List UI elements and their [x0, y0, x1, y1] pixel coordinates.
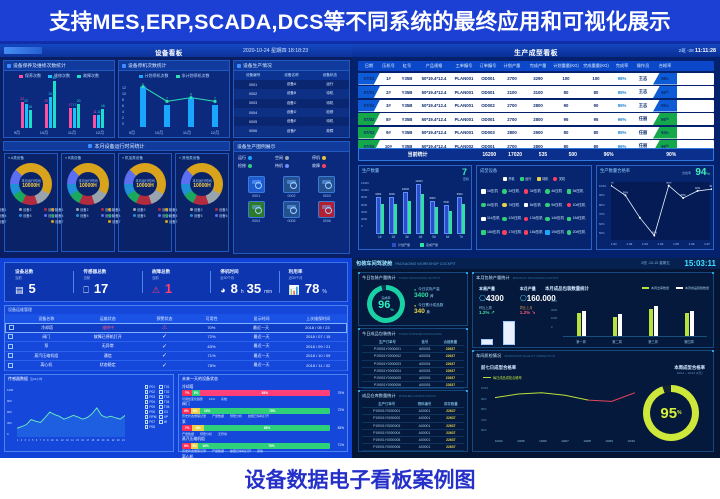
bar: 26 — [49, 97, 52, 128]
status-dot — [524, 203, 529, 208]
table-row[interactable]: P19001Y0000001A0000122637 — [362, 408, 464, 415]
sensor-checkbox[interactable]: P05 — [145, 405, 157, 409]
table-row[interactable]: 0003设备C待机 — [234, 99, 349, 108]
machine-chip[interactable]: 10#压机 — [567, 203, 587, 208]
x-tick: 16 — [81, 439, 84, 442]
legend-label: 待机 — [542, 176, 548, 181]
top-banner: 支持MES,ERP,SCADA,DCS等不同系统的最终应用和可视化展示 — [0, 0, 720, 41]
checkbox-icon[interactable] — [159, 415, 163, 419]
machine-chip[interactable]: 5#压机 — [567, 189, 587, 194]
table-row[interactable]: P19001Y0000002A0000122637 — [362, 415, 464, 422]
machine-status-title: 成型设备 — [477, 166, 591, 174]
today-output-title: 今日包装产量统计 TODAY PACKAGING OUTPUT — [359, 273, 467, 281]
legend-label: 设备7 — [169, 219, 177, 224]
sensor-checkbox[interactable]: T05 — [159, 405, 171, 409]
today-finished-table[interactable]: 生产订单号批号合格数量P19001Y0000001A0000122637P190… — [362, 338, 464, 389]
table-cell: OD001 — [477, 90, 499, 95]
table-row[interactable]: 泵无异常✓83%最近一天2018 / 09 / 21 — [5, 342, 347, 352]
x-tick: 第一周 — [576, 339, 586, 344]
table-cell: 80 — [551, 90, 581, 95]
maintenance-dashboard-panel: 设备总数当前▤5传感器总数当前⎕17故障总数当前⚠1停机时间近30个月◕8h35… — [0, 258, 352, 458]
table-cell: Y35B — [397, 90, 417, 95]
chip-label: 14#压机 — [551, 216, 564, 221]
availability-row: 冷却塔7%5%88%70%可用性变化趋势12%系统 — [182, 385, 344, 401]
machine-icon — [318, 201, 335, 218]
chip-label: 6#压机 — [487, 203, 498, 208]
availability-value: 70% — [189, 325, 233, 330]
table-cell: P19001Y0000002 — [362, 415, 411, 422]
y-tick: 12000 — [361, 180, 369, 187]
table-row[interactable]: P19001Y0000005A0000122637 — [362, 374, 464, 381]
runtime-section-header: 本月设备运行时间统计 — [3, 141, 230, 151]
table-cell: P19001Y0000001 — [362, 408, 411, 415]
kpi-value: 17 — [94, 282, 108, 295]
summary-cell: 535 — [528, 152, 558, 158]
table-row[interactable]: 0001设备A运行 — [234, 80, 349, 89]
legend-dot — [19, 214, 22, 217]
machine-chip[interactable]: 8#压机 — [524, 203, 544, 208]
x-tick: 10/09 — [605, 439, 613, 443]
output-stat-value: 3400 片 — [414, 292, 443, 299]
legend-item: 设备1 — [108, 207, 130, 212]
bar — [690, 311, 694, 336]
machine-chip[interactable]: 17#压机 — [502, 230, 522, 235]
availability-segment: 10% — [200, 408, 215, 414]
table-cell: 22637 — [437, 346, 464, 353]
sensor-checkbox[interactable]: O1 — [159, 410, 171, 414]
legend-item: 关机 — [553, 176, 565, 181]
svg-text:7: 7 — [214, 96, 216, 100]
y-tick: 0 — [361, 223, 369, 230]
row-checkbox[interactable] — [8, 363, 13, 368]
kpi-value: 78 — [305, 282, 319, 295]
equipment-cell[interactable]: 0004 — [240, 201, 272, 223]
alert-icon: ⚠ — [140, 324, 190, 331]
table-row[interactable]: 离心机状态稳定✓78%最近一天2018 / 11 / 02 — [5, 361, 347, 371]
maintenance-table-title: 设备运维管理 — [5, 306, 347, 314]
table-cell: P19001Y0000005 — [362, 374, 413, 381]
table-cell: 1# — [380, 76, 397, 81]
sensor-trend-title: 传感器数据 — [8, 376, 28, 382]
column-header: 操作员 — [633, 63, 653, 69]
availability-row: 蒸汽压缩机组6%5%10%79%71%历史状态维保记录产量数据故障已停机打开通信 — [182, 437, 344, 453]
x-tick: 9月 — [129, 130, 135, 136]
table-cell: 2700 — [499, 117, 525, 122]
machine-chip[interactable]: 1#压机 — [481, 189, 501, 194]
production-table-body[interactable]: 07/011#Y35B50*19.4*12.4PLAN001OD00127003… — [358, 73, 714, 153]
availability-title: 未来一天的设备状态 — [179, 375, 347, 383]
status-dot — [567, 203, 572, 208]
checkbox-icon[interactable] — [145, 425, 149, 429]
kpi-subtitle: 近30个月 — [220, 275, 278, 280]
stock-table[interactable]: 生产订单号物料编号库存数量P19001Y0000001A0000122637P1… — [362, 400, 464, 451]
table-cell: P19001Y0000004 — [362, 429, 411, 436]
table-row[interactable]: P19001Y0000001A0000122637 — [362, 346, 464, 353]
machine-icon — [248, 201, 265, 218]
status-dot — [481, 230, 486, 235]
table-row[interactable]: 07/013#Y35B50*19.4*12.4PLAN001OD00227002… — [358, 100, 714, 112]
table-cell: 设备B — [272, 91, 310, 96]
machine-chip[interactable]: 12#压机 — [502, 216, 522, 221]
x-tick: 10/04 — [495, 439, 503, 443]
sensor-checkbox[interactable]: T01 — [159, 385, 171, 389]
today-output-ring: 完成率 96% — [367, 285, 405, 323]
legend-item: 设备2 — [190, 207, 212, 212]
legend-label: 本周成品装箱数量 — [685, 286, 709, 290]
bar-group: 171720 — [69, 75, 80, 128]
packaging-cockpit-title: 包装车间驾驶舱 — [352, 260, 392, 267]
equipment-production-table[interactable]: 设备编号设备名称设备状态0001设备A运行0002设备B待机0003设备C待机0… — [234, 71, 349, 136]
table-cell: Y35B — [397, 103, 417, 108]
bar-value: 12000 — [415, 180, 422, 183]
production-table[interactable]: 日期压机号缸号产品规格工单编号订单编号计划产量完成产量计划重量(KG)完成重量(… — [358, 61, 714, 152]
donut-center-value: 10000H — [193, 183, 211, 189]
maintenance-card-title: 设备保养及维修次数统计 — [13, 62, 66, 69]
x-tick: 4 — [28, 439, 29, 442]
kpi-subtitle: 当前 — [83, 275, 141, 280]
equipment-cell[interactable]: 0006 — [311, 201, 343, 223]
availability-bar: 7%8%85% — [182, 425, 330, 431]
table-cell: A00001 — [411, 429, 437, 436]
table-row[interactable]: P19001Y0000006A0000122637 — [362, 382, 464, 389]
equipment-legend-card: 设备生产图例展示 运行空闲停机检修待机故障 000100020003000400… — [233, 141, 350, 254]
availability-segment: 79% — [213, 443, 330, 449]
legend-label: 完成产量 — [426, 243, 438, 247]
sensor-checkbox[interactable]: P04 — [145, 400, 157, 404]
table-row[interactable]: P19001Y0000003A0000122637 — [362, 360, 464, 367]
bar — [685, 313, 689, 336]
checkbox-icon[interactable] — [145, 410, 149, 414]
checkbox-icon[interactable] — [145, 395, 149, 399]
table-row[interactable]: 0005设备E待机 — [234, 117, 349, 126]
checkbox-label: T05 — [164, 405, 170, 409]
kpi-card: 设备总数当前▤5 — [5, 263, 73, 301]
table-cell: 22637 — [438, 444, 464, 451]
chip-label: 8#压机 — [530, 203, 541, 208]
equipment-cell[interactable]: 0002 — [275, 176, 307, 198]
sensor-checkbox[interactable]: RPM — [145, 415, 157, 419]
legend-label: 设备7 — [0, 219, 6, 224]
machine-chip[interactable]: 6#压机 — [481, 203, 501, 208]
table-row[interactable]: 0004设备D检修 — [234, 108, 349, 117]
last-maintenance: 2018 / 07 / 15 — [289, 334, 347, 339]
column-header: 生产订单号 — [362, 400, 411, 408]
machine-chip[interactable]: 2#压机 — [502, 189, 522, 194]
row-checkbox[interactable] — [8, 344, 13, 349]
column-header: 上次维保时间 — [289, 316, 347, 322]
sensor-checkbox[interactable]: T03 — [159, 395, 171, 399]
checkbox-icon[interactable] — [159, 405, 163, 409]
x-tick: 11月 — [68, 130, 76, 136]
production-board-header: 生产成型看板 2班 -28 11:11:28 — [352, 44, 720, 57]
table-cell: 0005 — [234, 120, 272, 124]
sensor-checkbox[interactable]: T02 — [159, 390, 171, 394]
availability-sub: 12% — [209, 397, 215, 401]
chip-label: 4#压机 — [551, 189, 562, 194]
legend-item: 运行 — [520, 176, 532, 181]
column-header: 产品规格 — [417, 63, 451, 69]
equipment-cell[interactable]: 0005 — [275, 201, 307, 223]
legend-dot — [76, 208, 79, 211]
legend-label: 设备1 — [112, 207, 120, 212]
machine-chip[interactable]: 18#压机 — [524, 230, 544, 235]
sensor-checkbox[interactable]: P08 — [145, 425, 157, 429]
table-row[interactable]: 07/011#Y35B50*19.4*12.4PLAN001OD00127003… — [358, 73, 714, 85]
checkbox-icon[interactable] — [145, 385, 149, 389]
equipment-cell-grid[interactable]: 000100020003000400050006 — [240, 176, 343, 223]
legend-item: 设备5 — [133, 213, 155, 218]
show-time: 最近一天 — [233, 325, 288, 331]
y-tick: 1200 — [7, 385, 13, 396]
checkbox-icon[interactable] — [145, 420, 149, 424]
kpi-unit: % — [322, 289, 326, 295]
availability-segment: 85% — [204, 425, 330, 431]
sensor-checkbox[interactable]: P03 — [145, 395, 157, 399]
kpi-value-row: 📊78% — [289, 282, 347, 296]
checkbox-icon[interactable] — [159, 420, 163, 424]
legend-item: 本周成品装箱数量 — [676, 286, 709, 290]
runtime-donut-card: » 机加类设备本月运行时间10000H设备1设备2设备3设备4设备5设备6设备7 — [118, 153, 172, 252]
legend-label: 本周出库数量 — [651, 286, 669, 290]
bar-value: 17 — [73, 103, 77, 107]
checkbox-icon[interactable] — [159, 400, 163, 404]
row-checkbox[interactable] — [8, 353, 13, 358]
donut-chart: 本月运行时间10000H — [124, 163, 166, 205]
table-cell: 50*19.4*12.4 — [417, 90, 451, 95]
done-bar — [449, 211, 452, 234]
caption-text: 设备数据电子看板案例图 — [245, 464, 476, 494]
table-cell: 90 — [581, 103, 611, 108]
checkbox-icon[interactable] — [145, 415, 149, 419]
table-row[interactable]: P19001Y0000003A0000122637 — [362, 422, 464, 429]
machine-chip[interactable]: 19#压机 — [545, 230, 565, 235]
chip-label: 16#压机 — [487, 230, 500, 235]
sensor-checkbox[interactable]: P01 — [145, 385, 157, 389]
machine-chip[interactable]: 3#压机 — [524, 189, 544, 194]
output-chart-panel: 生产数量 7 压机 120001000080006000400020000 90… — [358, 165, 472, 250]
checkbox-icon[interactable] — [159, 385, 163, 389]
pass-rate-cell: 96% — [653, 113, 677, 125]
sensor-checkbox[interactable]: P02 — [145, 390, 157, 394]
packaging-cockpit-panel: 包装车间驾驶舱 PACKAGING WORKSHOP COCKPIT 2班 -1… — [352, 258, 720, 458]
chip-label: 20#压机 — [573, 230, 586, 235]
bar-value: 20 — [24, 99, 28, 103]
checkbox-cell[interactable] — [5, 363, 17, 368]
maintenance-table-body[interactable]: 冷却塔维修中⚠70%最近一天2018 / 05 / 23阀门故障已停机打开✓72… — [5, 323, 347, 371]
checkbox-label: P03 — [149, 395, 155, 399]
kpi-unit: h — [241, 289, 244, 295]
bar: 20 — [45, 104, 48, 128]
column-header: 物料编号 — [411, 400, 437, 408]
table-cell: 0002 — [234, 92, 272, 96]
table-row[interactable]: P19001Y0000004A0000122637 — [362, 429, 464, 436]
checkbox-icon[interactable] — [145, 390, 149, 394]
equipment-name: 泵 — [17, 343, 77, 349]
packaging-cockpit-header: 包装车间驾驶舱 PACKAGING WORKSHOP COCKPIT 2班 -1… — [352, 258, 720, 269]
table-row[interactable]: 07/029#Y35B50*19.4*12.4PLAN001OD00328002… — [358, 127, 714, 139]
x-tick: 1.06 — [689, 242, 695, 246]
sensor-checkbox-list[interactable]: P01T01P02T02P03T03P04T04P05T05P06O1RPMVP… — [145, 385, 171, 429]
table-cell: A00001 — [413, 382, 437, 389]
legend-dot — [101, 214, 104, 217]
legend-label: 待机 — [275, 163, 283, 169]
plan-bar: 8000 — [430, 201, 435, 234]
clock-icon: ◕ — [220, 285, 225, 295]
machine-chip[interactable]: 13#压机 — [524, 216, 544, 221]
chip-label: 10#压机 — [573, 203, 586, 208]
column-header: 运维状态 — [76, 316, 139, 322]
column-header: 计划重量(KG) — [551, 63, 581, 69]
legend-dot — [190, 208, 193, 211]
maintenance-x-axis: 9月10月11月12月 — [4, 130, 114, 136]
status-text: 无异常 — [76, 343, 139, 349]
status-text: 故障已停机打开 — [76, 334, 139, 340]
table-row[interactable]: 阀门故障已停机打开✓72%最近一天2018 / 07 / 15 — [5, 333, 347, 343]
table-cell: 故障 — [311, 129, 349, 134]
checkbox-cell[interactable] — [5, 334, 17, 339]
week-stat-label: 本周产量 — [479, 286, 504, 292]
legend-dot — [322, 164, 326, 168]
table-row[interactable]: 蒸汽压缩机组通信✓71%最近一天2018 / 10 / 09 — [5, 352, 347, 362]
legend-dot — [19, 208, 22, 211]
server-icon: ▤ — [15, 285, 24, 296]
sensor-checkbox[interactable]: W — [159, 420, 171, 424]
table-cell: 待机 — [311, 119, 349, 124]
machine-chip[interactable]: 14#压机 — [545, 216, 565, 221]
y-tick: 100% — [481, 383, 488, 394]
machine-chip[interactable]: 20#压机 — [567, 230, 587, 235]
legend-dot — [133, 208, 136, 211]
sensor-checkbox[interactable]: T04 — [159, 400, 171, 404]
maintenance-table-panel[interactable]: 设备运维管理 设备名称运维状态预警状态可用性显示时间上次维保时间 冷却塔维修中⚠… — [4, 305, 348, 371]
column-header: 批号 — [413, 338, 437, 346]
bar — [613, 317, 617, 337]
table-row[interactable]: P19001Y0000006A0000122637 — [362, 444, 464, 451]
availability-sub: 产量数据 — [212, 414, 224, 418]
checkbox-cell[interactable] — [5, 344, 17, 349]
table-cell: 80 — [551, 130, 581, 135]
checkbox-cell[interactable] — [5, 353, 17, 358]
column-header: 订单编号 — [477, 63, 499, 69]
table-row[interactable]: 0002设备B待机 — [234, 89, 349, 98]
machine-chip[interactable]: 7#压机 — [502, 203, 522, 208]
checkbox-icon[interactable] — [145, 405, 149, 409]
table-cell: Y35B — [397, 76, 417, 81]
month-output-title-text: 本月包装产量统计 — [476, 275, 510, 280]
legend-label: 设备3 — [219, 207, 227, 212]
table-row[interactable]: 07/012#Y35B50*19.4*12.4PLAN001OD00121003… — [358, 86, 714, 98]
legend-item: 检修 — [238, 163, 271, 169]
machine-chip[interactable]: 15#压机 — [567, 216, 587, 221]
x-tick: 2# — [392, 235, 396, 239]
table-header-row: 生产订单号批号合格数量 — [362, 338, 464, 346]
table-row[interactable]: 0006设备F故障 — [234, 126, 349, 135]
checkbox-icon[interactable] — [159, 395, 163, 399]
table-cell: Y35B — [397, 130, 417, 135]
row-checkbox[interactable] — [9, 325, 14, 330]
checkbox-icon[interactable] — [159, 410, 163, 414]
chip-label: 2#压机 — [508, 189, 519, 194]
machine-status-chips[interactable]: 1#压机2#压机3#压机4#压机5#压机6#压机7#压机8#压机9#压机10#压… — [481, 185, 587, 239]
machine-chip[interactable]: 9#压机 — [545, 203, 565, 208]
stock-panel: 成品仓库数量统计 FINISHED GOODS STOCK 生产订单号物料编号库… — [358, 390, 468, 452]
table-row[interactable]: P19001Y0000002A0000122637 — [362, 353, 464, 360]
equipment-cell[interactable]: 0003 — [311, 176, 343, 198]
table-cell: OD002 — [477, 103, 499, 108]
x-tick: 9 — [47, 439, 48, 442]
checkbox-icon[interactable] — [145, 400, 149, 404]
column-header: 显示时间 — [234, 316, 290, 322]
plan-bar: 10000 — [403, 192, 408, 234]
availability-segment: 78% — [215, 408, 330, 414]
table-cell: Y35B — [397, 117, 417, 122]
svg-text:40%: 40% — [652, 231, 658, 235]
quality-gauge: 95% — [643, 385, 699, 441]
chip-label: 3#压机 — [530, 189, 541, 194]
row-checkbox[interactable] — [8, 334, 13, 339]
legend-label: 设备4 — [55, 213, 63, 218]
x-tick: 14 — [71, 439, 74, 442]
checkbox-label: P06 — [149, 410, 155, 414]
equipment-legend-list: 运行空闲停机检修待机故障 — [234, 152, 349, 172]
sensor-checkbox[interactable]: P07 — [145, 420, 157, 424]
sensor-checkbox[interactable]: P06 — [145, 410, 157, 414]
y-tick: 2000 — [551, 306, 557, 315]
machine-chip[interactable]: 11#压机 — [481, 216, 501, 221]
availability-sub: 历史状态维保记录 — [182, 414, 206, 418]
bar-group: 10000 — [403, 180, 411, 234]
legend-label: 设备5 — [137, 213, 145, 218]
equipment-cell[interactable]: 0001 — [240, 176, 272, 198]
availability-segment: 6% — [182, 443, 191, 449]
plan-bar: 9000 — [389, 197, 394, 234]
sensor-checkbox[interactable]: VP — [159, 415, 171, 419]
machine-chip[interactable]: 16#压机 — [481, 230, 501, 235]
table-row[interactable]: 07/028#Y35B50*19.4*12.4PLAN001OD00127002… — [358, 113, 714, 125]
x-tick: 11月 — [183, 130, 191, 136]
status-dot — [481, 189, 486, 194]
table-row[interactable]: 冷却塔维修中⚠70%最近一天2018 / 05 / 23 — [5, 323, 347, 333]
table-cell: 80 — [581, 90, 611, 95]
quality-title: 车间质检情况 WORKSHOP QUALITY INSPECTION — [473, 351, 713, 359]
column-header: 日期 — [358, 63, 380, 69]
checkbox-label: RPM — [149, 415, 156, 419]
checkbox-cell[interactable] — [6, 325, 17, 330]
output-legend: 计划产量完成产量 — [359, 243, 471, 247]
y-tick: 90% — [481, 394, 488, 405]
runtime-donut-card: » B类设备本月运行时间10000H设备1设备2设备3设备4设备5设备6设备7 — [61, 153, 115, 252]
pie-icon — [88, 144, 92, 148]
x-tick: 8 — [43, 439, 44, 442]
status-text: 通信 — [76, 353, 139, 359]
equipment-name: 冷却塔 — [17, 325, 76, 331]
machine-chip[interactable]: 4#压机 — [545, 189, 565, 194]
kpi-value: 1 — [165, 282, 172, 295]
table-cell: 90 — [551, 103, 581, 108]
alert-icon: ✓ — [140, 343, 190, 350]
availability-sub: 预警分析 — [230, 414, 242, 418]
x-tick: 1.04 — [658, 242, 664, 246]
table-row[interactable]: P19001Y0000004A0000122637 — [362, 367, 464, 374]
checkbox-icon[interactable] — [159, 390, 163, 394]
table-cell: 设备D — [272, 110, 310, 115]
availability-value: 72% — [189, 334, 233, 339]
table-row[interactable]: P19001Y0000005A0000122637 — [362, 436, 464, 443]
svg-text:96%: 96% — [611, 182, 614, 185]
done-bar — [421, 194, 424, 234]
bar-group — [577, 297, 586, 336]
x-tick: 6# — [446, 235, 450, 239]
